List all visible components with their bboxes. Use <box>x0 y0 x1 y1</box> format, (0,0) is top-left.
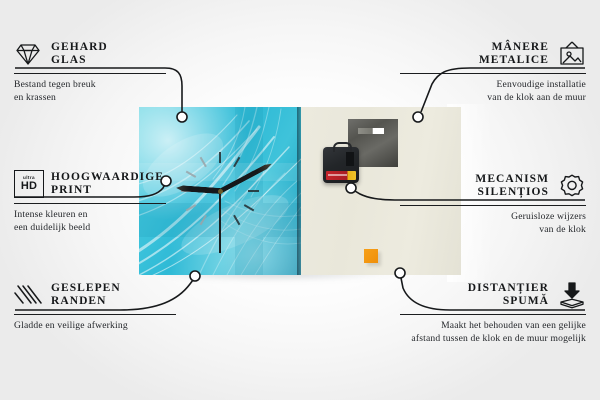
feature-geslepen-randen: GESLEPENRANDEN Gladde en veilige afwerki… <box>14 281 200 333</box>
feature-divider <box>400 205 586 206</box>
feature-subtitle: Geruisloze wijzersvan de klok <box>400 211 586 236</box>
diamond-icon <box>14 40 42 68</box>
ultra-hd-icon: ultra HD <box>14 170 42 198</box>
feature-hd-print: ultra HD HOOGWAARDIGEPRINT Intense kleur… <box>14 170 200 234</box>
feature-header: GESLEPENRANDEN <box>14 281 200 309</box>
feature-subtitle: Gladde en veilige afwerking <box>14 320 200 332</box>
feature-divider <box>14 314 176 315</box>
mechanism-hook <box>333 142 352 152</box>
feature-header: DISTANȚIERSPUMĂ <box>400 281 586 309</box>
feature-divider <box>14 73 166 74</box>
foam-spacer-icon <box>558 281 586 309</box>
feature-title: GEHARDGLAS <box>51 41 108 68</box>
feature-header: ultra HD HOOGWAARDIGEPRINT <box>14 170 200 198</box>
clock-mechanism-box <box>323 147 359 183</box>
feature-subtitle: Eenvoudige installatievan de klok aan de… <box>400 79 586 104</box>
infographic-canvas: GEHARDGLAS Bestand tegen breuken krassen… <box>0 0 600 400</box>
clock-second-hand <box>219 191 221 253</box>
clock-center-cap <box>218 189 223 194</box>
feature-header: GEHARDGLAS <box>14 40 200 68</box>
bevelled-edges-icon <box>14 281 42 309</box>
feature-subtitle: Bestand tegen breuken krassen <box>14 79 200 104</box>
feature-header: MECANISMSILENȚIOS <box>400 172 586 200</box>
foam-spacer <box>364 249 378 263</box>
feature-gehard-glas: GEHARDGLAS Bestand tegen breuken krassen <box>14 40 200 104</box>
feature-header: MÂNEREMETALICE <box>400 40 586 68</box>
feature-title: MECANISMSILENȚIOS <box>475 173 549 200</box>
feature-title: HOOGWAARDIGEPRINT <box>51 171 164 198</box>
hanger-slot <box>358 128 384 134</box>
feature-divider <box>14 203 166 204</box>
feature-manere-metalice: MÂNEREMETALICE Eenvoudige installatievan… <box>400 40 586 104</box>
gear-icon <box>558 172 586 200</box>
feature-divider <box>400 314 586 315</box>
feature-divider <box>400 73 586 74</box>
feature-subtitle: Maakt het behouden van een gelijkeafstan… <box>400 320 586 345</box>
picture-hanger-icon <box>558 40 586 68</box>
ultra-hd-icon-main: HD <box>21 181 37 192</box>
mechanism-detail <box>346 152 354 166</box>
feature-subtitle: Intense kleuren eneen duidelijk beeld <box>14 209 200 234</box>
battery <box>326 171 356 180</box>
battery-label-line <box>328 174 347 176</box>
feature-title: GESLEPENRANDEN <box>51 282 121 309</box>
feature-distantier-spuma: DISTANȚIERSPUMĂ Maakt het behouden van e… <box>400 281 586 345</box>
feature-mecanism-silentios: MECANISMSILENȚIOS Geruisloze wijzersvan … <box>400 172 586 236</box>
feature-title: DISTANȚIERSPUMĂ <box>468 282 549 309</box>
feature-title: MÂNEREMETALICE <box>479 41 549 68</box>
